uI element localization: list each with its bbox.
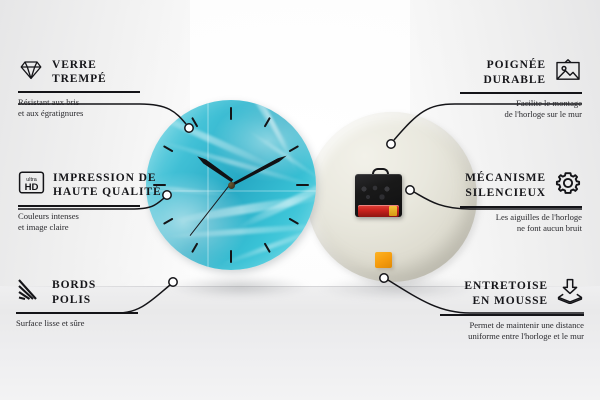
callout-description: Surface lisse et sûre xyxy=(16,318,138,330)
callout-tempered-glass[interactable]: VERRETREMPÉ Résistant aux bris et aux ég… xyxy=(18,58,140,120)
ultra-hd-icon: ultra HD xyxy=(18,170,45,200)
down-arrow-stack-icon xyxy=(556,278,584,309)
callout-rule xyxy=(440,314,584,316)
callout-title: MÉCANISMESILENCIEUX xyxy=(465,171,546,199)
foam-spacer xyxy=(375,252,392,268)
callout-title: BORDSPOLIS xyxy=(52,278,96,306)
infographic-canvas: VERRETREMPÉ Résistant aux bris et aux ég… xyxy=(0,0,600,400)
gear-icon xyxy=(554,170,582,201)
callout-description: Facilite le montage de l'horloge sur le … xyxy=(460,98,582,121)
clock-face xyxy=(146,100,316,270)
clock-mechanism xyxy=(355,168,402,217)
picture-hanger-icon xyxy=(554,58,582,87)
callout-description: Permet de maintenir une distance uniform… xyxy=(440,320,584,343)
callout-high-quality-print[interactable]: ultra HD IMPRESSION DEHAUTE QUALITÉ Coul… xyxy=(18,170,140,234)
callout-description: Résistant aux bris et aux égratignures xyxy=(18,97,140,120)
svg-text:HD: HD xyxy=(25,182,39,193)
callout-description: Couleurs intenses et image claire xyxy=(18,211,140,234)
callout-title: ENTRETOISEEN MOUSSE xyxy=(464,279,548,307)
callout-title: POIGNÉEDURABLE xyxy=(483,58,546,86)
clock-face-shadow xyxy=(150,272,330,302)
callout-description: Les aiguilles de l'horloge ne font aucun… xyxy=(460,212,582,235)
callout-foam-spacer[interactable]: ENTRETOISEEN MOUSSE Permet de maintenir … xyxy=(440,278,584,343)
callout-rule xyxy=(460,92,582,94)
hands-center-cap xyxy=(228,182,235,189)
callout-title: VERRETREMPÉ xyxy=(52,58,107,86)
battery xyxy=(358,205,399,217)
callout-rule xyxy=(18,205,140,207)
diamond-icon xyxy=(18,59,44,86)
mechanism-body xyxy=(355,174,402,217)
callout-title: IMPRESSION DEHAUTE QUALITÉ xyxy=(53,171,162,199)
callout-durable-hanger[interactable]: POIGNÉEDURABLE Facilite le montage de l'… xyxy=(460,58,582,121)
mechanism-detail xyxy=(360,185,396,201)
callout-rule xyxy=(460,206,582,208)
callout-rule xyxy=(16,312,138,314)
callout-rule xyxy=(18,91,140,93)
diagonal-lines-icon xyxy=(16,278,44,307)
callout-silent-mechanism[interactable]: MÉCANISMESILENCIEUX Les aiguilles de l'h… xyxy=(460,170,582,235)
callout-polished-edges[interactable]: BORDSPOLIS Surface lisse et sûre xyxy=(16,278,138,329)
